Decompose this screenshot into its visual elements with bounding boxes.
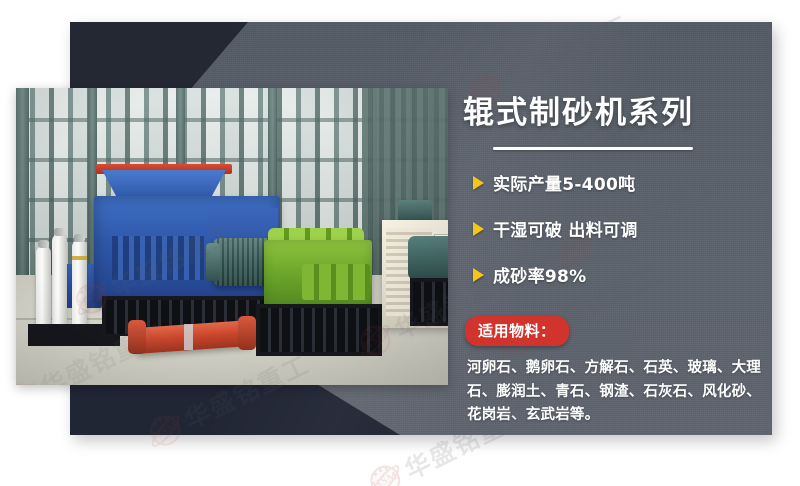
feature-item: 成砂率98% <box>473 262 763 287</box>
arrow-bullet-icon <box>473 176 484 190</box>
feature-label: 实际产量5-400吨 <box>493 170 635 195</box>
banner-stage: HSM 华盛铭重工 HSM 华盛铭重工 HSM 华盛铭重工 HSM 华盛铭重工 … <box>0 0 800 486</box>
feature-list: 实际产量5-400吨 干湿可破 出料可调 成砂率98% <box>463 170 763 287</box>
title-divider <box>493 147 693 150</box>
materials-text: 河卵石、鹅卵石、方解石、石英、玻璃、大理石、膨润土、青石、钢渣、石灰石、风化砂、… <box>467 357 762 427</box>
hsm-logo-icon: HSM <box>363 458 408 486</box>
feature-label: 成砂率98% <box>493 262 587 287</box>
materials-badge: 适用物料： <box>465 316 569 346</box>
content-column: 辊式制砂机系列 实际产量5-400吨 干湿可破 出料可调 成砂率98% 适用物料… <box>463 96 763 428</box>
feature-item: 干湿可破 出料可调 <box>473 216 763 241</box>
arrow-bullet-icon <box>473 268 484 282</box>
arrow-bullet-icon <box>473 222 484 236</box>
page-title: 辊式制砂机系列 <box>463 96 763 130</box>
feature-label: 干湿可破 出料可调 <box>493 216 638 241</box>
product-photo: HSM 华盛铭重工 HSM 华盛铭重工 <box>16 88 448 385</box>
feature-item: 实际产量5-400吨 <box>473 170 763 195</box>
hsm-logo-text: HSM <box>363 458 408 486</box>
photo-vignette <box>16 88 448 385</box>
